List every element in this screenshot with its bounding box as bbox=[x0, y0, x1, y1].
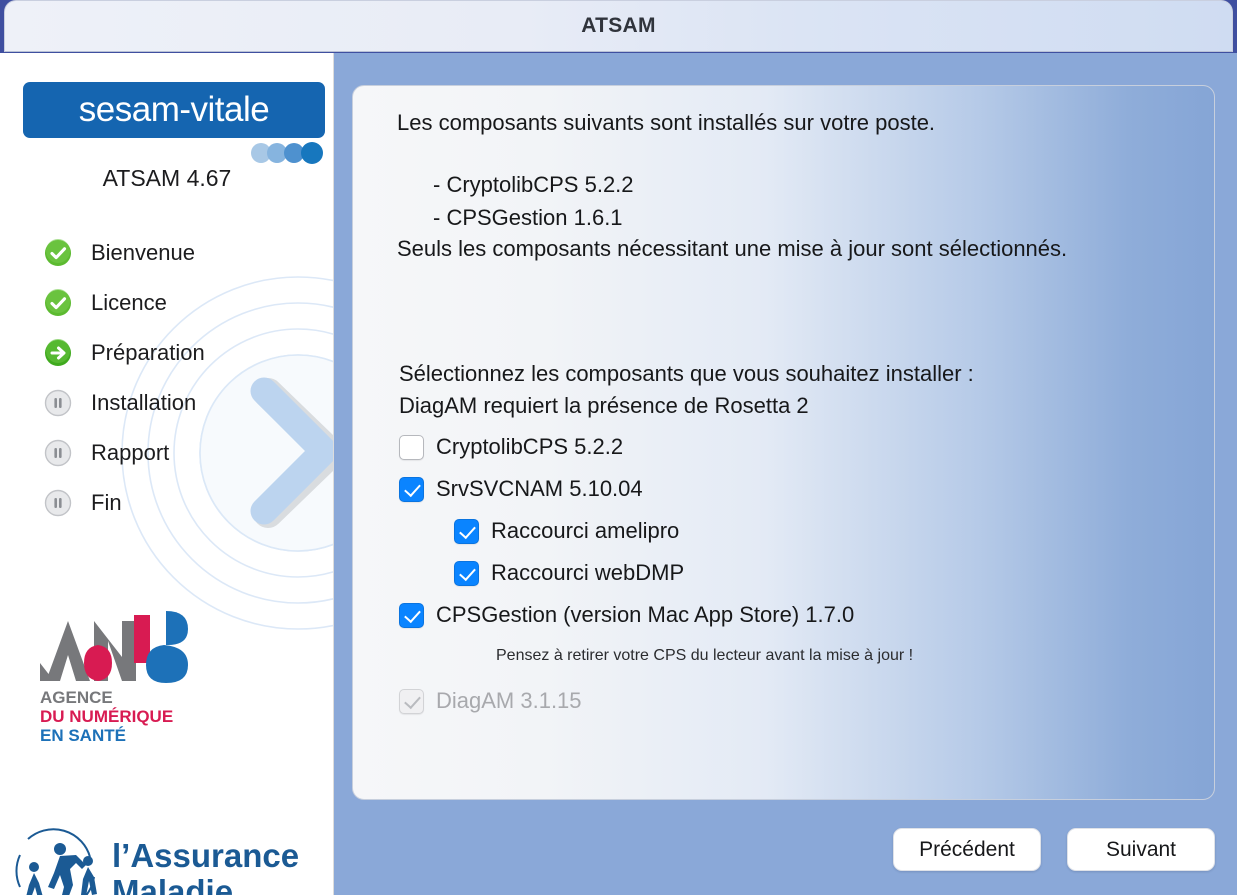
assurance-maladie-logo: l’Assurance Maladie bbox=[4, 825, 320, 895]
arrow-circle-icon bbox=[43, 338, 73, 368]
component-row[interactable]: Raccourci amelipro bbox=[399, 518, 1189, 560]
window-body: sesam-vitale ATSAM 4.67 BienvenueLicence… bbox=[0, 53, 1237, 895]
component-row[interactable]: SrvSVCNAM 5.10.04 bbox=[399, 476, 1189, 518]
installed-item: - CryptolibCPS 5.2.2 bbox=[433, 168, 1177, 201]
list-spacer bbox=[399, 666, 1189, 688]
component-hint: Pensez à retirer votre CPS du lecteur av… bbox=[399, 646, 1189, 666]
installer-window: ATSAM sesam-vitale bbox=[0, 0, 1237, 895]
step-item-prparation[interactable]: Préparation bbox=[43, 328, 323, 378]
installed-components-list: - CryptolibCPS 5.2.2- CPSGestion 1.6.1 bbox=[397, 168, 1177, 234]
component-label: Raccourci webDMP bbox=[491, 560, 684, 586]
intro-block: Les composants suivants sont installés s… bbox=[397, 108, 1177, 264]
check-circle-icon bbox=[43, 288, 73, 318]
component-checkbox[interactable] bbox=[454, 561, 479, 586]
rosetta-note: DiagAM requiert la présence de Rosetta 2 bbox=[399, 390, 1189, 422]
component-label: Raccourci amelipro bbox=[491, 518, 679, 544]
component-checkbox[interactable] bbox=[399, 435, 424, 460]
component-checkbox[interactable] bbox=[399, 603, 424, 628]
step-label: Fin bbox=[91, 490, 122, 516]
component-label: CryptolibCPS 5.2.2 bbox=[436, 434, 623, 460]
pause-circle-icon bbox=[43, 488, 73, 518]
component-label: SrvSVCNAM 5.10.04 bbox=[436, 476, 643, 502]
previous-button[interactable]: Précédent bbox=[893, 828, 1041, 871]
pause-circle-icon bbox=[43, 438, 73, 468]
select-title: Sélectionnez les composants que vous sou… bbox=[399, 358, 1189, 390]
step-item-rapport[interactable]: Rapport bbox=[43, 428, 323, 478]
sesam-vitale-logo-text: sesam-vitale bbox=[79, 90, 269, 130]
sesam-vitale-dots-icon bbox=[249, 142, 329, 164]
component-checkbox bbox=[399, 689, 424, 714]
sesam-vitale-logo: sesam-vitale bbox=[23, 82, 325, 138]
assurance-line2: Maladie bbox=[112, 873, 233, 895]
window-title: ATSAM bbox=[581, 14, 656, 38]
assurance-line1: l’Assurance bbox=[112, 837, 299, 874]
component-row: DiagAM 3.1.15 bbox=[399, 688, 1189, 730]
step-item-installation[interactable]: Installation bbox=[43, 378, 323, 428]
component-label: DiagAM 3.1.15 bbox=[436, 688, 582, 714]
step-list: BienvenueLicencePréparationInstallationR… bbox=[43, 228, 323, 528]
component-checkbox[interactable] bbox=[454, 519, 479, 544]
check-circle-icon bbox=[43, 238, 73, 268]
next-button[interactable]: Suivant bbox=[1067, 828, 1215, 871]
component-row[interactable]: Raccourci webDMP bbox=[399, 560, 1189, 602]
ans-line3: EN SANTÉ bbox=[40, 726, 126, 745]
ans-line1: AGENCE bbox=[40, 688, 113, 707]
step-label: Rapport bbox=[91, 440, 169, 466]
step-item-fin[interactable]: Fin bbox=[43, 478, 323, 528]
content-panel: Les composants suivants sont installés s… bbox=[352, 85, 1215, 800]
pause-circle-icon bbox=[43, 388, 73, 418]
ans-line2: DU NUMÉRIQUE bbox=[40, 707, 173, 726]
intro-note: Seuls les composants nécessitant une mis… bbox=[397, 234, 1177, 264]
step-label: Préparation bbox=[91, 340, 205, 366]
sidebar: sesam-vitale ATSAM 4.67 BienvenueLicence… bbox=[0, 53, 334, 895]
component-label: CPSGestion (version Mac App Store) 1.7.0 bbox=[436, 602, 854, 628]
step-label: Installation bbox=[91, 390, 196, 416]
step-item-licence[interactable]: Licence bbox=[43, 278, 323, 328]
step-label: Licence bbox=[91, 290, 167, 316]
component-row[interactable]: CPSGestion (version Mac App Store) 1.7.0 bbox=[399, 602, 1189, 644]
component-selection-block: Sélectionnez les composants que vous sou… bbox=[399, 358, 1189, 730]
step-label: Bienvenue bbox=[91, 240, 195, 266]
installed-item: - CPSGestion 1.6.1 bbox=[433, 201, 1177, 234]
footer-buttons: Précédent Suivant bbox=[893, 828, 1215, 871]
ans-logo: AGENCE DU NUMÉRIQUE EN SANTÉ bbox=[38, 585, 228, 745]
window-titlebar: ATSAM bbox=[4, 0, 1233, 52]
app-version-label: ATSAM 4.67 bbox=[0, 165, 334, 192]
component-row[interactable]: CryptolibCPS 5.2.2 bbox=[399, 434, 1189, 476]
intro-heading: Les composants suivants sont installés s… bbox=[397, 108, 1177, 138]
component-checkbox[interactable] bbox=[399, 477, 424, 502]
component-checkbox-list: CryptolibCPS 5.2.2SrvSVCNAM 5.10.04Racco… bbox=[399, 434, 1189, 730]
step-item-bienvenue[interactable]: Bienvenue bbox=[43, 228, 323, 278]
